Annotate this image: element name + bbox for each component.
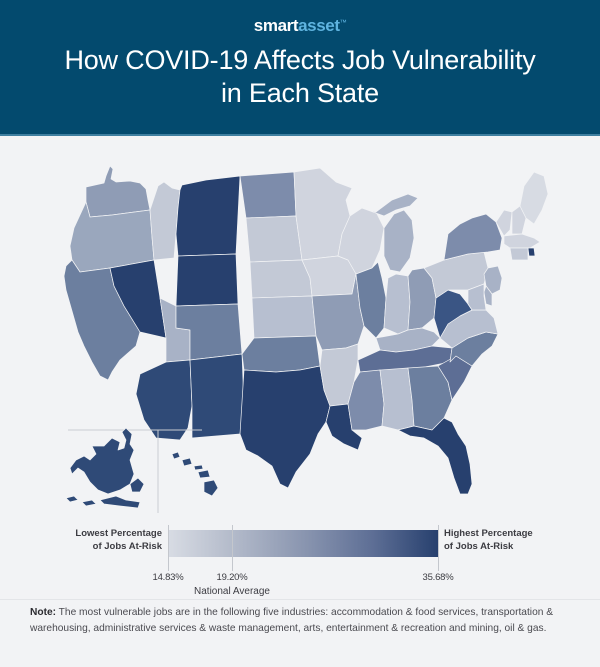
state-alaska-aleutians-2[interactable] (82, 500, 96, 506)
footnote: Note: The most vulnerable jobs are in th… (30, 605, 578, 636)
state-indiana[interactable] (384, 274, 410, 334)
state-new-york[interactable] (444, 214, 502, 260)
state-massachusetts[interactable] (504, 234, 540, 248)
smartasset-logo: smartasset™ (0, 16, 600, 36)
legend-value-mid: 19.20% (216, 572, 247, 583)
logo-text-smart: smart (254, 16, 298, 35)
legend-tick-max (438, 525, 439, 571)
legend-label-highest: Highest Percentage of Jobs At-Risk (444, 527, 584, 553)
state-kansas[interactable] (252, 296, 316, 338)
state-alaska-aleutians-1[interactable] (66, 496, 78, 502)
state-new-mexico[interactable] (190, 354, 244, 438)
trademark-icon: ™ (340, 19, 347, 26)
state-nebraska[interactable] (250, 260, 312, 298)
state-hawaii-molokai[interactable] (194, 465, 203, 470)
legend-value-min: 14.83% (152, 572, 183, 583)
state-wyoming[interactable] (176, 254, 238, 306)
state-idaho[interactable] (150, 182, 180, 260)
legend-gradient-bar (168, 530, 438, 557)
state-hawaii-kauai[interactable] (172, 452, 180, 459)
logo-text-asset: asset (298, 16, 339, 35)
legend-label-lowest-line2: of Jobs At-Risk (30, 540, 162, 553)
state-texas[interactable] (240, 366, 330, 488)
legend-label-highest-line1: Highest Percentage (444, 527, 584, 540)
state-oklahoma[interactable] (242, 336, 320, 372)
us-choropleth-map (0, 138, 600, 518)
legend-label-lowest-line1: Lowest Percentage (30, 527, 162, 540)
legend-tick-min (168, 525, 169, 571)
state-hawaii-maui[interactable] (198, 470, 210, 478)
state-south-dakota[interactable] (246, 216, 302, 262)
page-title-line1: How COVID-19 Affects Job Vulnerability (64, 45, 535, 75)
footnote-label: Note: (30, 607, 56, 618)
state-arizona[interactable] (136, 360, 192, 440)
state-florida[interactable] (398, 418, 472, 494)
state-montana[interactable] (176, 176, 240, 256)
infographic-page: smartasset™ How COVID-19 Affects Job Vul… (0, 0, 600, 667)
state-alaska-panhandle[interactable] (130, 478, 144, 492)
state-north-dakota[interactable] (240, 172, 296, 218)
map-legend: Lowest Percentage of Jobs At-Risk 14.83%… (0, 519, 600, 591)
state-hawaii-big-island[interactable] (204, 480, 218, 496)
page-title-line2: in Each State (10, 77, 590, 110)
state-washington[interactable] (86, 166, 150, 217)
state-hawaii-oahu[interactable] (182, 458, 192, 466)
legend-value-max: 35.68% (422, 572, 453, 583)
legend-label-lowest: Lowest Percentage of Jobs At-Risk (30, 527, 162, 553)
footnote-text: The most vulnerable jobs are in the foll… (30, 607, 553, 634)
legend-label-highest-line2: of Jobs At-Risk (444, 540, 584, 553)
state-michigan[interactable] (384, 210, 414, 272)
state-alaska-aleutians-3[interactable] (100, 496, 140, 508)
state-rhode-island[interactable] (528, 248, 535, 256)
header-banner: smartasset™ How COVID-19 Affects Job Vul… (0, 0, 600, 136)
page-title: How COVID-19 Affects Job Vulnerability i… (10, 44, 590, 110)
legend-national-average-caption: National Average (194, 586, 270, 597)
legend-tick-national-average (232, 525, 233, 571)
state-alaska[interactable] (70, 428, 134, 494)
note-divider (0, 599, 600, 600)
state-connecticut[interactable] (510, 248, 528, 260)
